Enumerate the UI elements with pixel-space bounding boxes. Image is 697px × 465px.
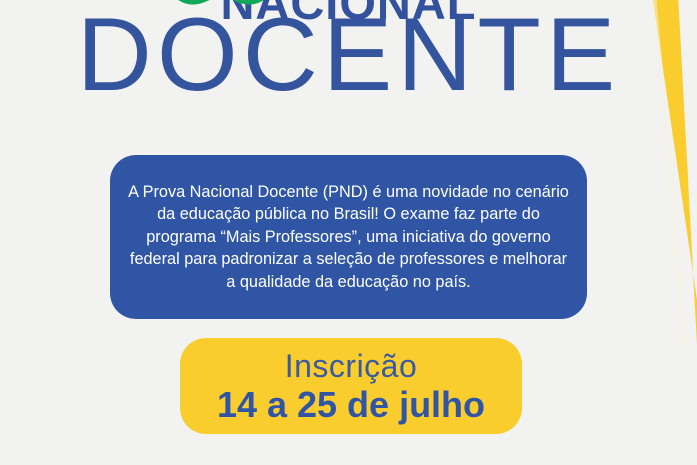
registration-title: Inscrição (285, 348, 418, 384)
logo-docente-text: DOCENTE (0, 3, 697, 107)
logo-block: NACIONAL DOCENTE (0, 0, 697, 108)
description-card: A Prova Nacional Docente (PND) é uma nov… (110, 155, 587, 319)
poster-canvas: NACIONAL DOCENTE A Prova Nacional Docent… (0, 0, 697, 465)
description-card-text: A Prova Nacional Docente (PND) é uma nov… (110, 181, 587, 294)
registration-card: Inscrição 14 a 25 de julho (180, 338, 522, 434)
registration-dates: 14 a 25 de julho (217, 385, 485, 425)
